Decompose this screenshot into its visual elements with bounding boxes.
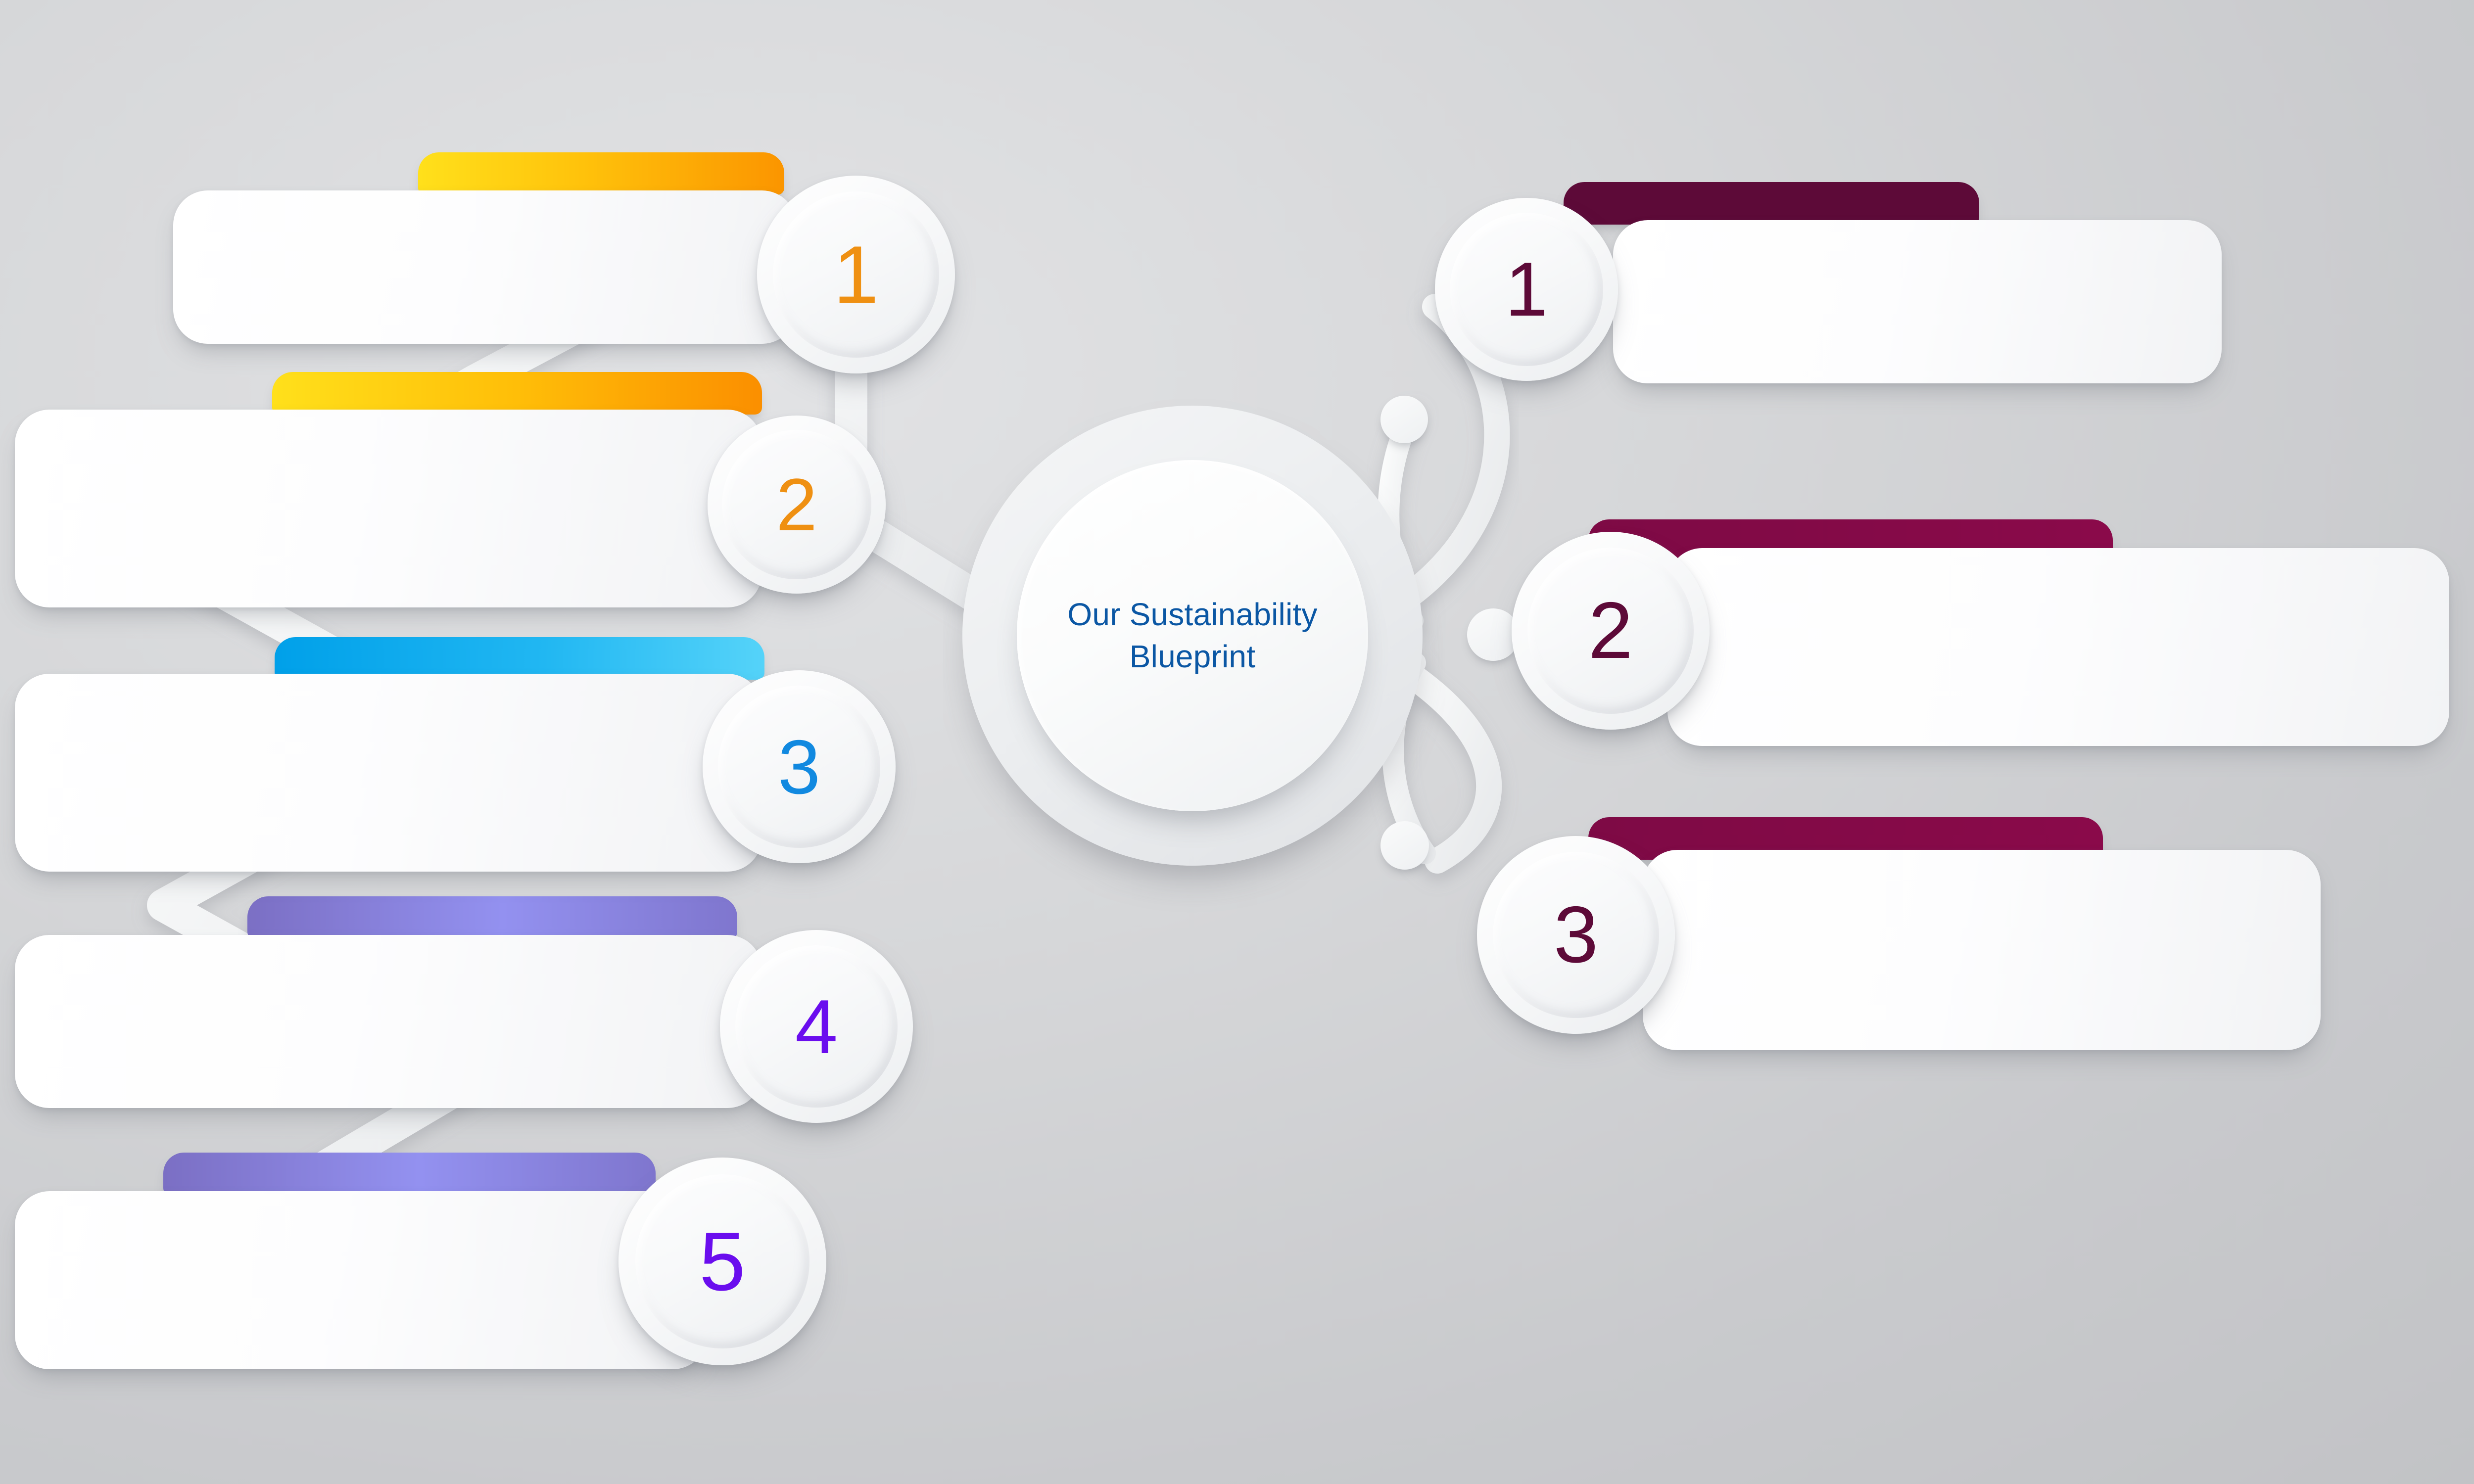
number-bubble-left-4[interactable]: 4 — [720, 930, 913, 1123]
card-left-5[interactable] — [15, 1191, 708, 1369]
card-right-1[interactable] — [1613, 220, 2222, 383]
accent-bar-left-1 — [418, 152, 784, 195]
card-right-3[interactable] — [1643, 850, 2321, 1050]
number-bubble-right-2[interactable]: 2 — [1512, 532, 1710, 730]
number-bubble-inner: 3 — [1493, 852, 1659, 1018]
number-label-right-2: 2 — [1588, 591, 1633, 671]
number-bubble-inner: 1 — [773, 191, 939, 358]
center-title: Our Sustainability Blueprint — [1067, 594, 1317, 678]
accent-bar-left-4 — [247, 896, 737, 939]
number-label-right-3: 3 — [1554, 895, 1598, 975]
number-bubble-left-5[interactable]: 5 — [618, 1158, 826, 1365]
number-bubble-left-2[interactable]: 2 — [708, 416, 886, 594]
number-bubble-inner: 2 — [722, 430, 871, 579]
infographic-canvas: Our Sustainability Blueprint Use Green E… — [0, 0, 2474, 1484]
number-bubble-inner: 2 — [1527, 548, 1694, 714]
accent-bar-left-2 — [272, 372, 762, 415]
number-label-left-5: 5 — [699, 1220, 745, 1303]
number-bubble-left-1[interactable]: 1 — [757, 176, 955, 373]
card-right-2[interactable] — [1667, 548, 2449, 746]
number-label-left-1: 1 — [833, 234, 879, 316]
number-label-left-2: 2 — [776, 467, 817, 542]
number-bubble-left-3[interactable]: 3 — [703, 670, 896, 863]
number-bubble-inner: 4 — [735, 945, 898, 1108]
accent-bar-right-1 — [1564, 182, 1979, 225]
number-bubble-inner: 1 — [1450, 213, 1604, 367]
card-left-1[interactable] — [173, 190, 797, 344]
card-left-4[interactable] — [15, 935, 762, 1108]
connector-node-right-1 — [1380, 396, 1428, 443]
card-left-2[interactable] — [15, 410, 762, 607]
number-bubble-right-1[interactable]: 1 — [1435, 198, 1618, 381]
number-bubble-right-3[interactable]: 3 — [1477, 836, 1675, 1034]
card-left-3[interactable] — [15, 674, 762, 872]
number-bubble-inner: 5 — [635, 1174, 810, 1349]
number-label-left-4: 4 — [795, 988, 838, 1065]
connector-node-right-3 — [1380, 821, 1429, 870]
number-label-left-3: 3 — [778, 729, 820, 805]
number-label-right-1: 1 — [1505, 251, 1548, 327]
center-hub[interactable]: Our Sustainability Blueprint — [1017, 460, 1368, 811]
number-bubble-inner: 3 — [718, 686, 880, 848]
accent-bar-left-5 — [163, 1153, 656, 1195]
